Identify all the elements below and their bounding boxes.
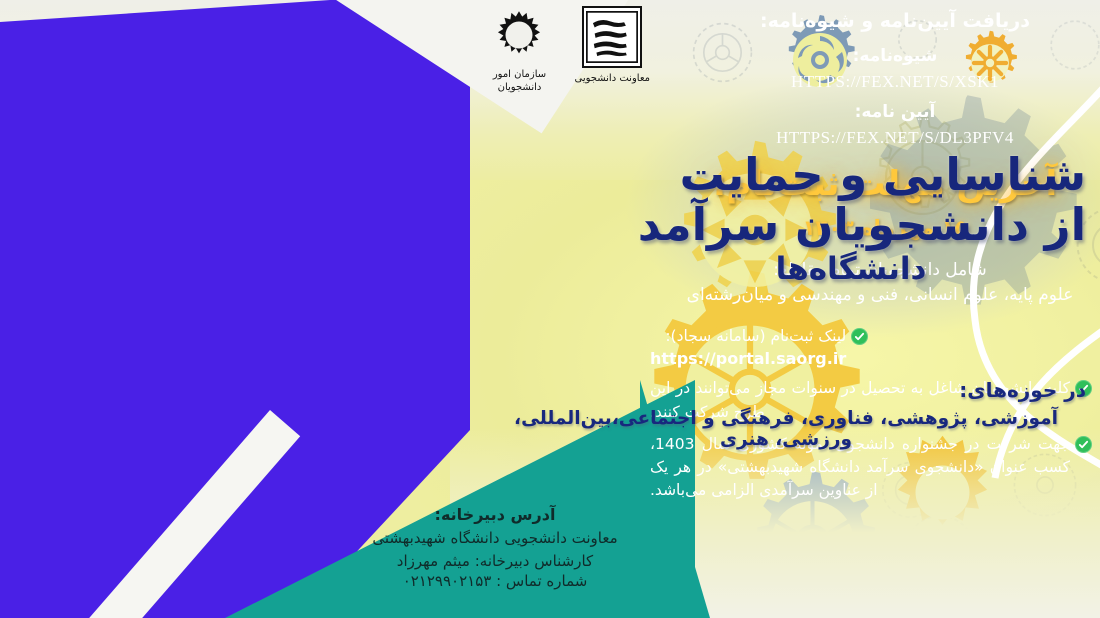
student-affairs-ring-icon — [490, 6, 548, 64]
secretariat-block: آدرس دبیرخانه: معاونت دانشجویی دانشگاه ش… — [330, 505, 660, 590]
logo-caption-sbu: معاونت دانشجویی — [574, 73, 650, 86]
guideline-url[interactable]: HTTPS://FEX.NET/S/XSK1 — [710, 70, 1080, 95]
guideline-label: شیوه‌نامه: — [710, 44, 1080, 69]
regulation-label: آیین نامه: — [710, 100, 1080, 125]
logo-caption-org-line-2: دانشجویان — [493, 82, 546, 95]
logo-student-affairs-org: سازمان امور دانشجویان — [490, 6, 548, 94]
registration-url[interactable]: https://portal.saorg.ir — [650, 349, 846, 368]
secretariat-line-1: معاونت دانشجویی دانشگاه شهیدبهشتی — [330, 527, 660, 550]
regulation-url[interactable]: HTTPS://FEX.NET/S/DL3PFV4 — [710, 126, 1080, 151]
list-item: لینک ثبت‌نام (سامانه سجاد): https://port… — [650, 325, 1092, 368]
secretariat-heading: آدرس دبیرخانه: — [330, 505, 660, 524]
title-line-3: دانشگاه‌ها — [556, 251, 1086, 288]
downloads-heading: دریافت آیین‌نامه و شیوه‌نامه: — [710, 8, 1080, 36]
secretariat-phone: شماره تماس : ۰۲۱۲۹۹۰۲۱۵۳ — [330, 572, 660, 590]
shahid-beheshti-seal-icon — [582, 6, 642, 68]
bullet-text: لینک ثبت‌نام (سامانه سجاد): — [665, 327, 846, 345]
secretariat-line-2: کارشناس دبیرخانه: میثم مهرزاد — [330, 550, 660, 573]
logo-shahid-beheshti: معاونت دانشجویی — [574, 6, 650, 86]
poster-root: دریافت آیین‌نامه و شیوه‌نامه: شیوه‌نامه:… — [0, 0, 1100, 618]
check-circle-icon — [851, 328, 868, 345]
sbu-calligraphy-icon — [586, 11, 638, 63]
title-line-2: از دانشجویان سرآمد — [556, 200, 1086, 250]
logo-row: معاونت دانشجویی سازمان امور دانشجویان — [430, 6, 650, 111]
fields-block: در حوزه‌های: آموزشی، پژوهشی، فناوری، فره… — [486, 378, 1086, 450]
fields-body: آموزشی، پژوهشی، فناوری، فرهنگی و اجتماعی… — [486, 408, 1086, 450]
logo-caption-org: سازمان امور دانشجویان — [493, 69, 546, 94]
fields-heading: در حوزه‌های: — [486, 378, 1086, 402]
poster-main-title: شناسایی و حمایت از دانشجویان سرآمد دانشگ… — [556, 150, 1086, 288]
title-line-1: شناسایی و حمایت — [556, 150, 1086, 200]
logo-caption-org-line-1: سازمان امور — [493, 69, 546, 82]
